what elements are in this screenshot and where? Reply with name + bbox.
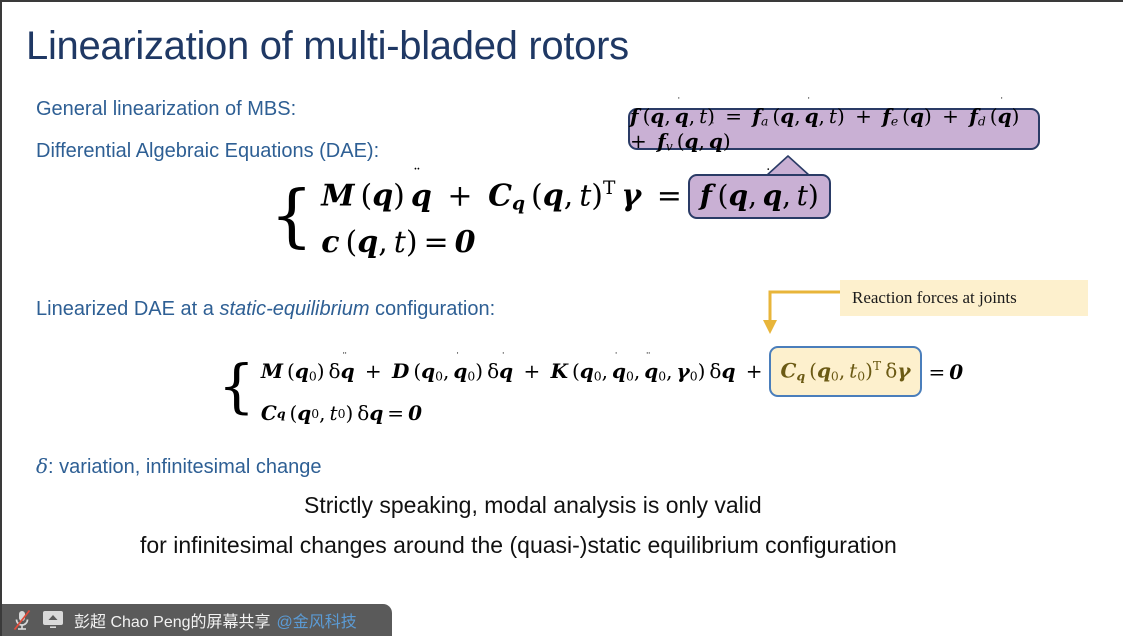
boxed-constraint-reaction-term: Cq (q0, t0)T δγ [769, 346, 923, 397]
delta-definition: δ: variation, infinitesimal change [36, 454, 322, 479]
share-company-label: @金风科技 [277, 608, 357, 632]
expanded-force-formula: f (q, ̇q, t) = fa (q, ̇q, t) + fe (q) + … [630, 104, 1038, 153]
linearized-suffix: configuration: [370, 298, 496, 320]
boxed-force-term: f (q, ̇q, t) [688, 174, 831, 219]
section-label-dae: Differential Algebraic Equations (DAE): [36, 140, 379, 163]
statement-line-1: Strictly speaking, modal analysis is onl… [304, 492, 762, 519]
callout-reaction-forces: Reaction forces at joints [840, 280, 1088, 316]
screen-share-icon[interactable] [42, 610, 64, 630]
linearized-equation-row-2: Cq (q0, t0) δq = 0 [261, 401, 963, 425]
boxed-force-term-text: f (q, ̇q, t) [700, 179, 819, 212]
linearized-italic-term: static-equilibrium [219, 298, 369, 320]
system-brace-icon: { [270, 186, 313, 247]
mic-muted-icon[interactable] [12, 609, 32, 631]
section-label-linearized-dae: Linearized DAE at a static-equilibrium c… [36, 298, 495, 321]
section-label-general-linearization: General linearization of MBS: [36, 98, 296, 121]
callout-text: Reaction forces at joints [852, 288, 1017, 308]
delta-symbol: δ [36, 454, 48, 478]
linearized-system-brace-icon: { [218, 360, 255, 412]
delta-definition-text: : variation, infinitesimal change [48, 456, 321, 478]
page-title: Linearization of multi-bladed rotors [26, 24, 629, 69]
dae-equation-system: { M (q) ̈q + Cq (q, t)T γ = f (q, ̇q, t)… [270, 174, 831, 260]
dae-equation-row-2: c (q, t) = 0 [321, 225, 831, 260]
presentation-slide: Linearization of multi-bladed rotors Gen… [0, 0, 1123, 636]
linearized-equation-system: { M (q0) δ̈q + D (q0, ̇q0) δ̇q + K (q0, … [218, 346, 963, 425]
share-presenter-label: 彭超 Chao Peng的屏幕共享 [74, 608, 271, 632]
boxed-constraint-reaction-text: Cq (q0, t0)T δγ [781, 358, 911, 383]
callout-elbow-arrow-icon [758, 288, 850, 336]
expanded-force-formula-box: f (q, ̇q, t) = fa (q, ̇q, t) + fe (q) + … [628, 108, 1040, 150]
statement-line-2: for infinitesimal changes around the (qu… [140, 532, 897, 559]
linearized-prefix: Linearized DAE at a [36, 298, 219, 320]
linearized-equation-row-1: M (q0) δ̈q + D (q0, ̇q0) δ̇q + K (q0, ̇q… [261, 346, 963, 397]
dae-equation-row-1: M (q) ̈q + Cq (q, t)T γ = f (q, ̇q, t) [321, 174, 831, 219]
screen-share-bar[interactable]: 彭超 Chao Peng的屏幕共享 @金风科技 [2, 604, 392, 636]
